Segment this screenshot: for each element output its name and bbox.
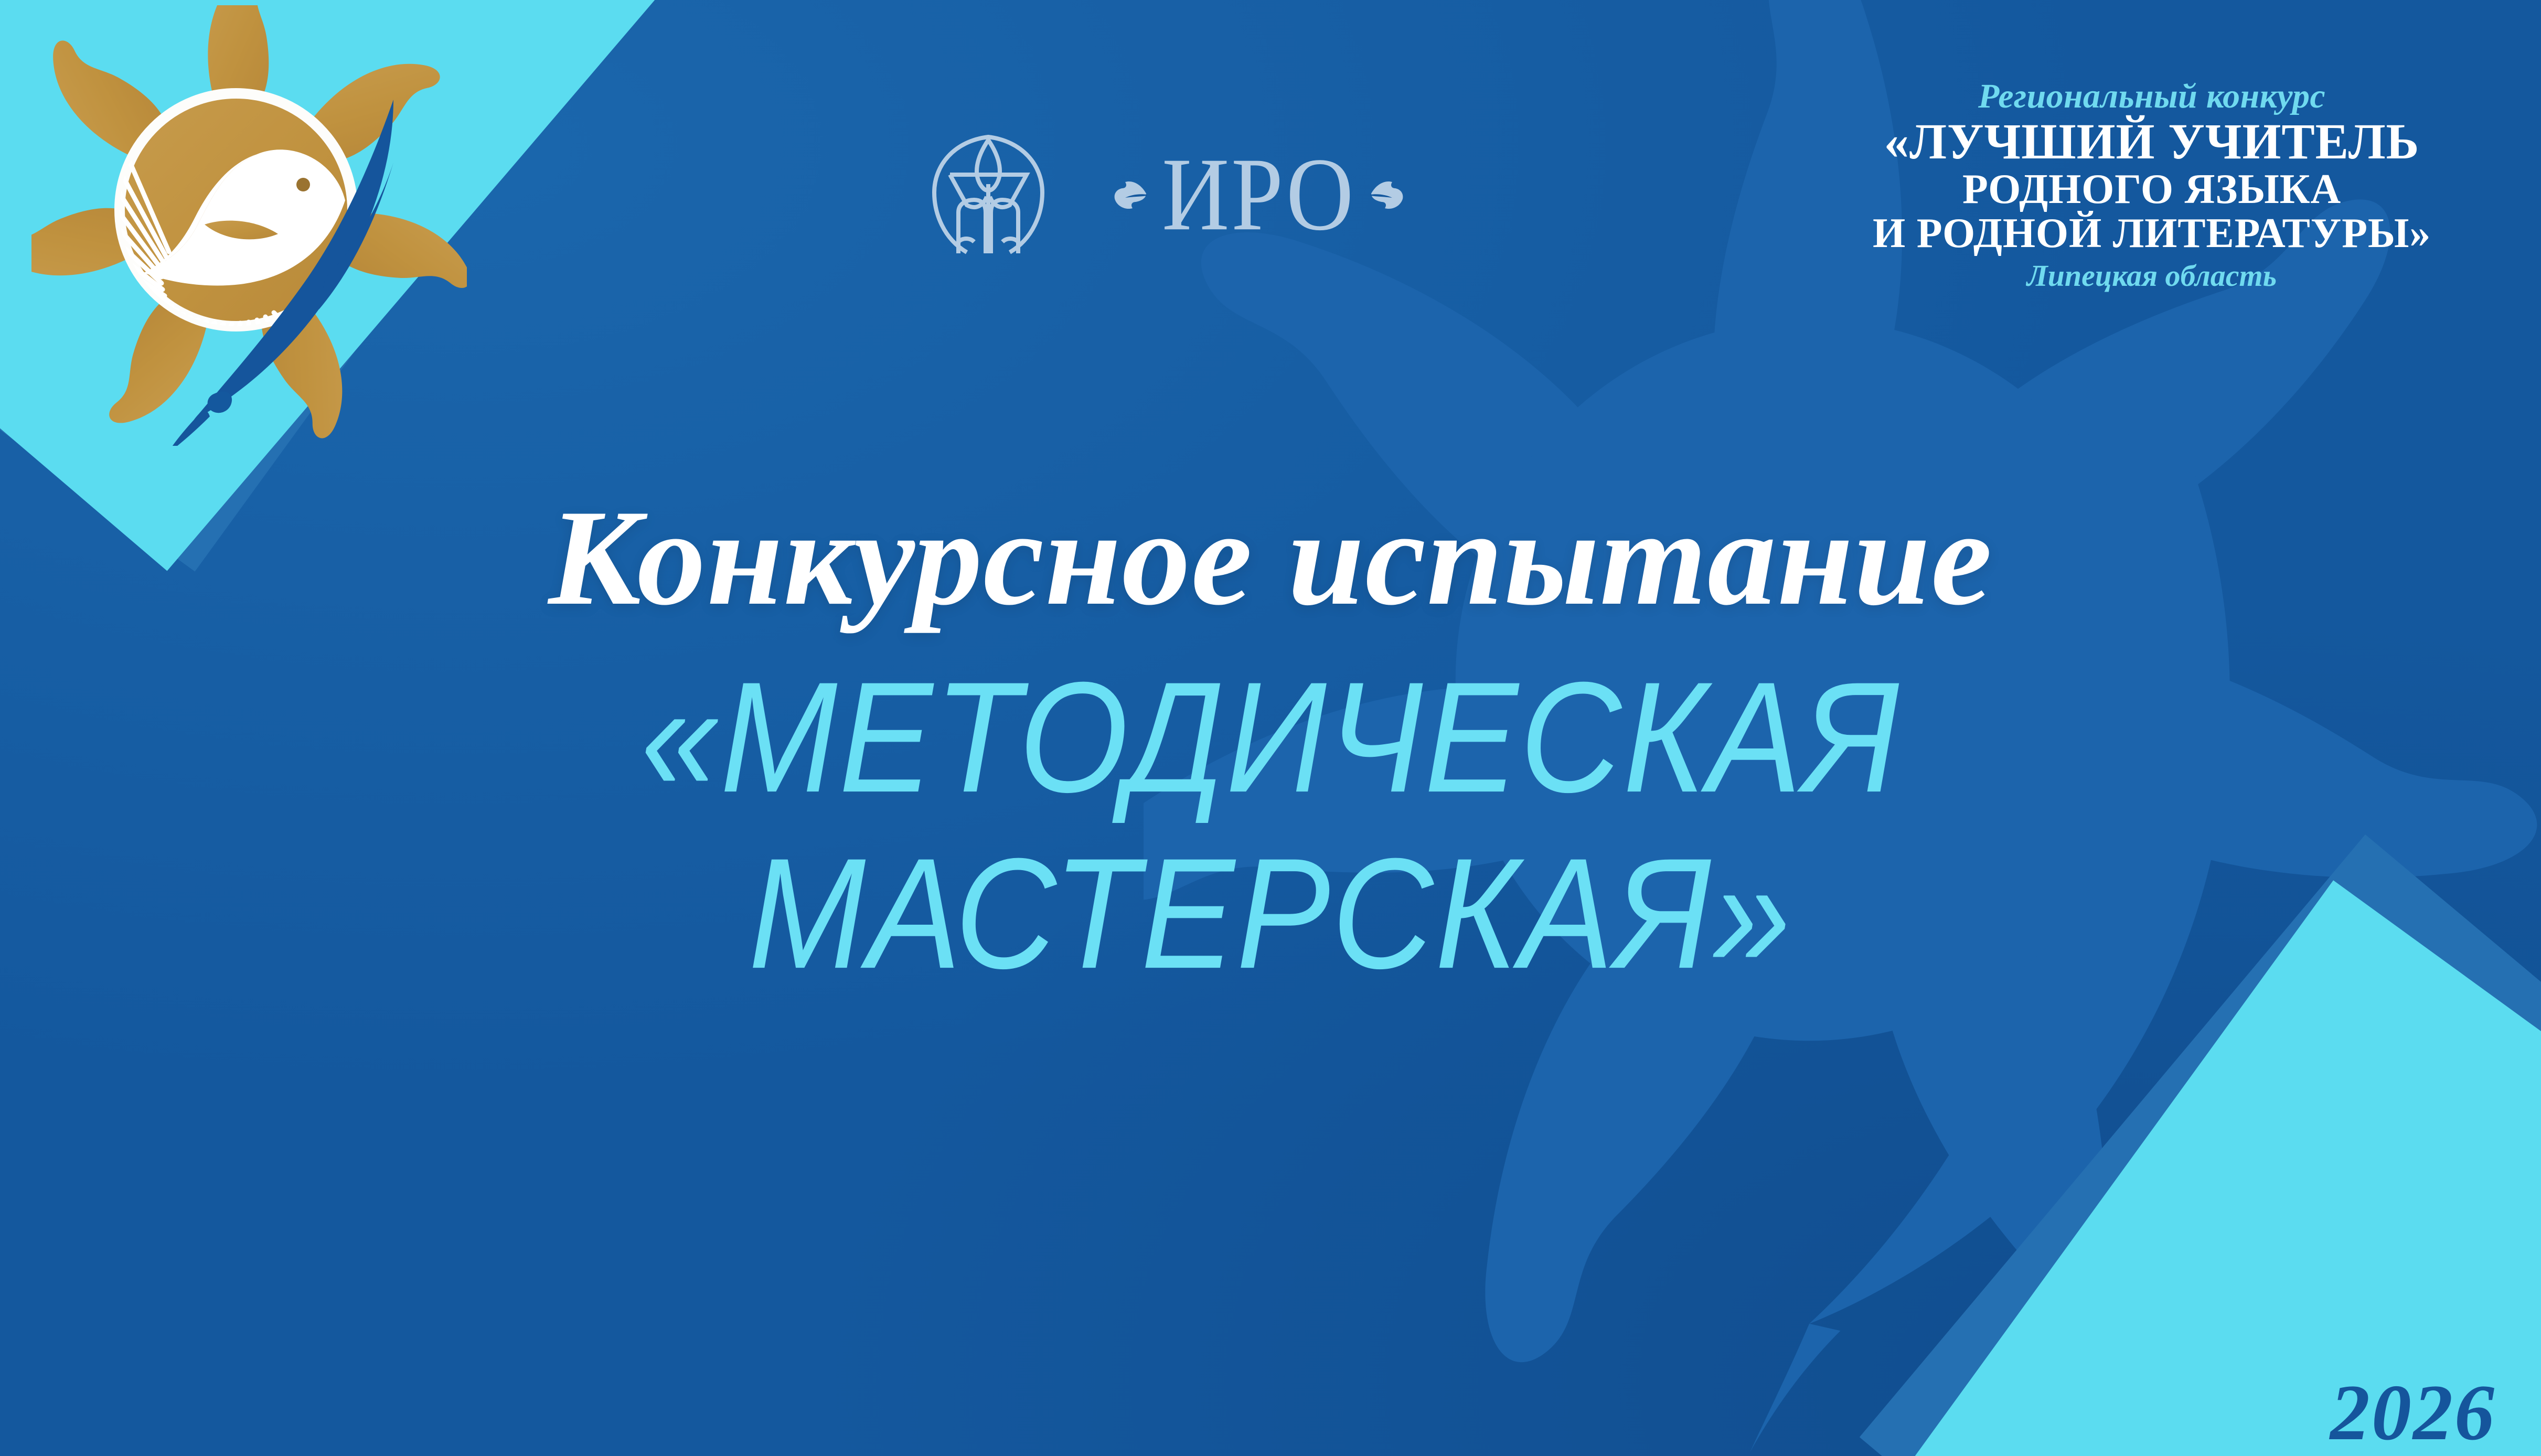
year-badge: 2026: [2330, 1367, 2496, 1456]
competition-title-line2: РОДНОГО ЯЗЫКА: [1811, 168, 2493, 211]
competition-kicker: Региональный конкурс: [1811, 79, 2493, 114]
competition-title-block: Региональный конкурс «ЛУЧШИЙ УЧИТЕЛЬ РОД…: [1811, 79, 2493, 292]
competition-region: Липецкая область: [1811, 260, 2493, 291]
page-title-line-1: «МЕТОДИЧЕСКАЯ: [0, 649, 2541, 825]
iro-wordmark: ИРО: [1114, 147, 1404, 241]
competition-title-line1: «ЛУЧШИЙ УЧИТЕЛЬ: [1814, 116, 2490, 167]
page-title: «МЕТОДИЧЕСКАЯ МАСТЕРСКАЯ»: [0, 649, 2541, 1001]
competition-title-line3: И РОДНОЙ ЛИТЕРАТУРЫ»: [1811, 212, 2493, 255]
page-subtitle: Конкурсное испытание: [0, 488, 2541, 628]
leaf-ornament-right: [1369, 176, 1404, 212]
page-title-line-2: МАСТЕРСКАЯ»: [0, 825, 2541, 1001]
main-heading: Конкурсное испытание «МЕТОДИЧЕСКАЯ МАСТЕ…: [0, 488, 2541, 964]
iro-logo: ИРО: [931, 134, 1404, 254]
leaf-ornament-left: [1114, 176, 1148, 212]
sun-bird-emblem: [31, 5, 467, 446]
slide-root: ИРО Региональный конкурс «ЛУЧШИЙ УЧИТЕЛЬ…: [0, 0, 2541, 1456]
iro-letters: ИРО: [1162, 142, 1355, 246]
book-sprout-circle-emblem: [931, 134, 1045, 254]
